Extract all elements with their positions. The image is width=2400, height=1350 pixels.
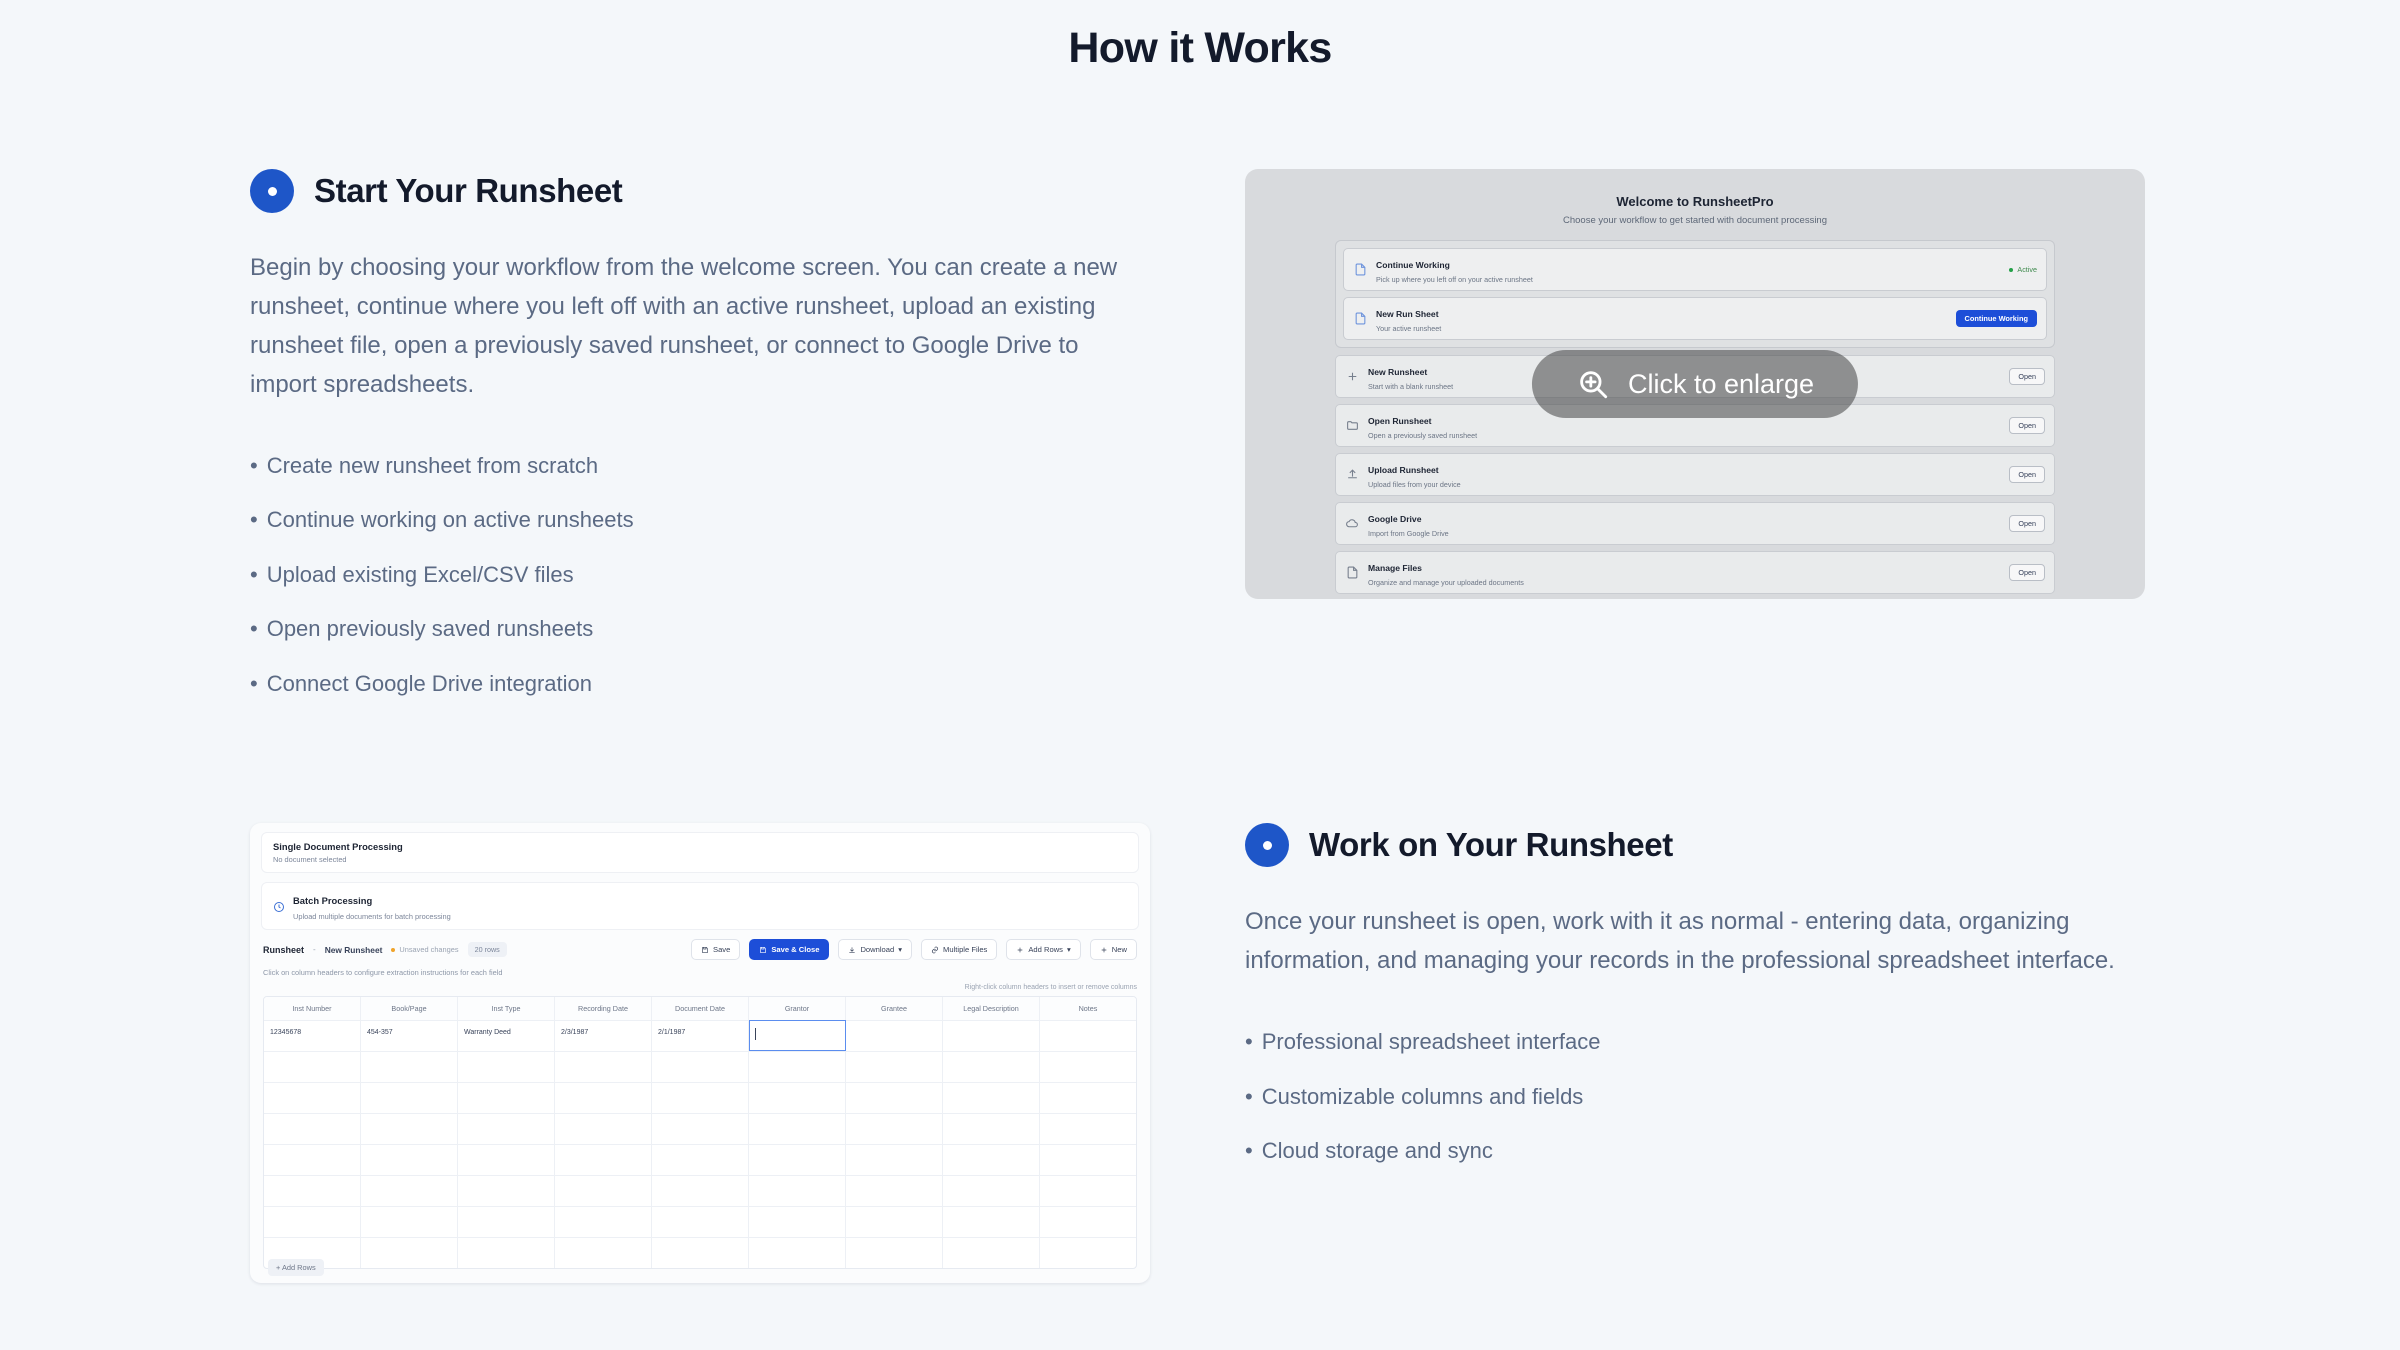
table-cell[interactable]	[555, 1144, 652, 1175]
table-row	[264, 1082, 1136, 1113]
new-button-label: New	[1112, 945, 1127, 954]
column-hint-right: Right-click column headers to insert or …	[250, 984, 1150, 996]
table-cell[interactable]	[846, 1020, 943, 1051]
list-item-desc: Upload files from your device	[1368, 480, 2009, 489]
chevron-down-icon: ▾	[898, 945, 902, 954]
table-cell[interactable]	[943, 1237, 1040, 1268]
table-cell[interactable]	[458, 1237, 555, 1268]
runsheet-table: Inst Number Book/Page Inst Type Recordin…	[263, 996, 1137, 1269]
table-cell[interactable]	[749, 1206, 846, 1237]
list-item[interactable]: Continue Working Pick up where you left …	[1343, 248, 2047, 291]
folder-icon	[1345, 418, 1360, 433]
table-cell[interactable]	[264, 1144, 361, 1175]
list-item-label: Create new runsheet from scratch	[267, 453, 598, 478]
list-item-title: Open Runsheet	[1368, 416, 1432, 426]
list-item-desc: Your active runsheet	[1376, 324, 1956, 333]
table-cell[interactable]	[555, 1175, 652, 1206]
list-item: •Connect Google Drive integration	[250, 657, 1155, 712]
table-cell[interactable]	[361, 1113, 458, 1144]
table-cell[interactable]	[846, 1206, 943, 1237]
list-item: •Continue working on active runsheets	[250, 493, 1155, 548]
single-document-card[interactable]: Single Document Processing No document s…	[261, 832, 1139, 873]
list-item: •Open previously saved runsheets	[250, 602, 1155, 657]
rows-count-badge: 20 rows	[468, 942, 507, 957]
table-cell[interactable]	[749, 1113, 846, 1144]
section-work-on-your-runsheet: Single Document Processing No document s…	[250, 823, 2150, 1283]
list-item-title: New Runsheet	[1368, 367, 1427, 377]
link-icon	[931, 946, 939, 954]
table-cell[interactable]	[749, 1051, 846, 1082]
table-cell[interactable]	[458, 1144, 555, 1175]
table-cell[interactable]: 12345678	[264, 1020, 361, 1051]
table-cell[interactable]	[652, 1206, 749, 1237]
table-cell[interactable]	[555, 1082, 652, 1113]
document-icon	[1353, 311, 1368, 326]
table-cell[interactable]	[749, 1237, 846, 1268]
table-row: 12345678 454-357 Warranty Deed 2/3/1987 …	[264, 1020, 1136, 1051]
magnifier-plus-icon	[1576, 367, 1610, 401]
list-item-desc: Open a previously saved runsheet	[1368, 431, 2009, 440]
plus-icon	[1016, 946, 1024, 954]
list-item-desc: Pick up where you left off on your activ…	[1376, 275, 2009, 284]
bullet-marker: •	[250, 453, 258, 478]
table-cell[interactable]	[264, 1206, 361, 1237]
plus-icon	[1345, 369, 1360, 384]
table-cell[interactable]	[749, 1144, 846, 1175]
list-item: •Professional spreadsheet interface	[1245, 1015, 2150, 1070]
table-cell[interactable]	[749, 1175, 846, 1206]
table-cell[interactable]	[943, 1113, 1040, 1144]
dot-circle-icon	[250, 169, 294, 213]
breadcrumb-root[interactable]: Runsheet	[263, 945, 304, 955]
table-cell[interactable]	[555, 1051, 652, 1082]
list-item[interactable]: Upload Runsheet Upload files from your d…	[1335, 453, 2055, 496]
table-row	[264, 1113, 1136, 1144]
table-cell[interactable]	[846, 1082, 943, 1113]
status-badge: Active	[2009, 265, 2037, 274]
save-and-close-label: Save & Close	[771, 945, 819, 954]
download-label: Download	[860, 945, 894, 954]
column-header-book-page[interactable]: Book/Page	[361, 997, 458, 1020]
table-cell[interactable]	[458, 1175, 555, 1206]
table-cell[interactable]	[264, 1051, 361, 1082]
open-button[interactable]: Open	[2009, 368, 2045, 385]
table-cell[interactable]	[846, 1144, 943, 1175]
list-item-label: Connect Google Drive integration	[267, 671, 592, 696]
cloud-icon	[1345, 516, 1360, 531]
column-header-grantee[interactable]: Grantee	[846, 997, 943, 1020]
save-button-label: Save	[713, 945, 730, 954]
upload-icon	[1345, 467, 1360, 482]
click-to-enlarge-overlay[interactable]: Click to enlarge	[1532, 350, 1858, 418]
spreadsheet-screenshot-thumbnail[interactable]: Single Document Processing No document s…	[250, 823, 1150, 1283]
unsaved-dot-icon	[391, 948, 395, 952]
column-header-grantor[interactable]: Grantor	[749, 997, 846, 1020]
bullet-marker: •	[1245, 1138, 1253, 1163]
table-cell[interactable]	[943, 1082, 1040, 1113]
section-1-paragraph: Begin by choosing your workflow from the…	[250, 249, 1130, 405]
table-cell[interactable]	[458, 1206, 555, 1237]
open-button[interactable]: Open	[2009, 515, 2045, 532]
bullet-marker: •	[250, 616, 258, 641]
table-cell[interactable]	[1040, 1051, 1136, 1082]
list-item-title: Upload Runsheet	[1368, 465, 1439, 475]
list-item-text: New Run Sheet Your active runsheet	[1376, 304, 1956, 333]
table-cell[interactable]	[1040, 1175, 1136, 1206]
table-row	[264, 1237, 1136, 1268]
table-cell[interactable]	[652, 1051, 749, 1082]
list-item-label: Customizable columns and fields	[1262, 1084, 1584, 1109]
welcome-title: Welcome to RunsheetPro	[1335, 194, 2055, 209]
table-cell[interactable]	[652, 1144, 749, 1175]
section-1-heading: Start Your Runsheet	[314, 172, 622, 210]
unsaved-changes-badge: Unsaved changes	[391, 945, 458, 954]
table-row	[264, 1051, 1136, 1082]
table-cell[interactable]	[361, 1082, 458, 1113]
active-table-cell[interactable]	[749, 1020, 846, 1051]
list-item-label: Professional spreadsheet interface	[1262, 1029, 1601, 1054]
table-cell[interactable]	[264, 1082, 361, 1113]
section-2-text-column: Work on Your Runsheet Once your runsheet…	[1245, 823, 2150, 1179]
table-cell[interactable]: 454-357	[361, 1020, 458, 1051]
table-cell[interactable]	[458, 1082, 555, 1113]
open-button[interactable]: Open	[2009, 466, 2045, 483]
list-item: •Cloud storage and sync	[1245, 1124, 2150, 1179]
download-icon	[848, 946, 856, 954]
batch-title: Batch Processing	[293, 895, 372, 906]
list-item-desc: Import from Google Drive	[1368, 529, 2009, 538]
continue-working-panel: Continue Working Pick up where you left …	[1335, 240, 2055, 348]
content-wrapper: Start Your Runsheet Begin by choosing yo…	[250, 169, 2150, 1283]
list-item[interactable]: Manage Files Organize and manage your up…	[1335, 551, 2055, 594]
table-cell[interactable]	[1040, 1237, 1136, 1268]
list-item-label: Open previously saved runsheets	[267, 616, 594, 641]
list-item-text: Google Drive Import from Google Drive	[1368, 509, 2009, 538]
single-document-subtitle: No document selected	[273, 855, 1127, 864]
table-cell[interactable]	[943, 1206, 1040, 1237]
runsheet-toolbar: Runsheet - New Runsheet Unsaved changes …	[250, 930, 1150, 962]
table-cell[interactable]	[264, 1175, 361, 1206]
new-button[interactable]: New	[1090, 939, 1137, 960]
open-button[interactable]: Open	[2009, 417, 2045, 434]
table-cell[interactable]	[846, 1113, 943, 1144]
continue-working-button[interactable]: Continue Working	[1956, 310, 2038, 327]
list-item-title: Continue Working	[1376, 260, 1450, 270]
bullet-marker: •	[250, 562, 258, 587]
list-item-label: Continue working on active runsheets	[267, 507, 634, 532]
multiple-files-label: Multiple Files	[943, 945, 987, 954]
table-row	[264, 1206, 1136, 1237]
save-icon	[701, 946, 709, 954]
table-cell[interactable]	[1040, 1020, 1136, 1051]
file-icon	[1345, 565, 1360, 580]
table-cell[interactable]	[361, 1206, 458, 1237]
table-cell[interactable]	[361, 1144, 458, 1175]
table-cell[interactable]	[1040, 1144, 1136, 1175]
table-header-row: Inst Number Book/Page Inst Type Recordin…	[264, 997, 1136, 1020]
section-1-heading-row: Start Your Runsheet	[250, 169, 1155, 213]
table-cell[interactable]	[943, 1144, 1040, 1175]
table-cell[interactable]	[846, 1237, 943, 1268]
save-button[interactable]: Save	[691, 939, 740, 960]
list-item-title: New Run Sheet	[1376, 309, 1439, 319]
table-cell[interactable]	[555, 1206, 652, 1237]
list-item[interactable]: Google Drive Import from Google Drive Op…	[1335, 502, 2055, 545]
list-item: •Customizable columns and fields	[1245, 1070, 2150, 1125]
section-2-heading: Work on Your Runsheet	[1309, 826, 1673, 864]
batch-subtitle: Upload multiple documents for batch proc…	[293, 912, 451, 921]
table-cell[interactable]	[1040, 1113, 1136, 1144]
page-title: How it Works	[0, 0, 2400, 73]
dot-circle-icon	[1245, 823, 1289, 867]
table-row	[264, 1144, 1136, 1175]
section-2-bullet-list: •Professional spreadsheet interface •Cus…	[1245, 1015, 2150, 1179]
single-document-title: Single Document Processing	[273, 841, 1127, 852]
list-item[interactable]: New Run Sheet Your active runsheet Conti…	[1343, 297, 2047, 340]
bullet-marker: •	[1245, 1029, 1253, 1054]
unsaved-label: Unsaved changes	[399, 945, 458, 954]
add-rows-button[interactable]: Add Rows ▾	[1006, 939, 1080, 960]
bullet-marker: •	[250, 671, 258, 696]
section-start-your-runsheet: Start Your Runsheet Begin by choosing yo…	[250, 169, 2150, 711]
column-header-document-date[interactable]: Document Date	[652, 997, 749, 1020]
section-1-text-column: Start Your Runsheet Begin by choosing yo…	[250, 169, 1155, 711]
table-cell[interactable]	[1040, 1082, 1136, 1113]
save-icon	[759, 946, 767, 954]
bullet-marker: •	[1245, 1084, 1253, 1109]
breadcrumb-separator: -	[313, 945, 316, 954]
section-2-paragraph: Once your runsheet is open, work with it…	[1245, 903, 2125, 981]
table-cell[interactable]	[652, 1082, 749, 1113]
section-2-heading-row: Work on Your Runsheet	[1245, 823, 2150, 867]
batch-processing-card[interactable]: Batch Processing Upload multiple documen…	[261, 882, 1139, 930]
list-item: •Create new runsheet from scratch	[250, 439, 1155, 494]
list-item: •Upload existing Excel/CSV files	[250, 548, 1155, 603]
add-rows-label: Add Rows	[1028, 945, 1063, 954]
list-item-desc: Organize and manage your uploaded docume…	[1368, 578, 2009, 587]
batch-icon	[273, 900, 285, 912]
list-item-text: Manage Files Organize and manage your up…	[1368, 558, 2009, 587]
table-row	[264, 1175, 1136, 1206]
document-icon	[1353, 262, 1368, 277]
table-cell[interactable]: 2/3/1987	[555, 1020, 652, 1051]
table-cell[interactable]	[652, 1237, 749, 1268]
table-cell[interactable]	[458, 1051, 555, 1082]
chevron-down-icon: ▾	[1067, 945, 1071, 954]
list-item-title: Google Drive	[1368, 514, 1421, 524]
section-1-bullet-list: •Create new runsheet from scratch •Conti…	[250, 439, 1155, 712]
table-cell[interactable]: 2/1/1987	[652, 1020, 749, 1051]
welcome-screenshot-thumbnail[interactable]: Welcome to RunsheetPro Choose your workf…	[1245, 169, 2145, 599]
table-cell[interactable]	[555, 1113, 652, 1144]
table-cell[interactable]	[652, 1175, 749, 1206]
table-cell[interactable]	[943, 1051, 1040, 1082]
table-cell[interactable]	[846, 1051, 943, 1082]
table-cell[interactable]	[749, 1082, 846, 1113]
list-item-title: Manage Files	[1368, 563, 1422, 573]
table-cell[interactable]	[1040, 1206, 1136, 1237]
bullet-marker: •	[250, 507, 258, 532]
table-cell[interactable]	[943, 1020, 1040, 1051]
column-hint: Click on column headers to configure ext…	[250, 962, 1150, 984]
table-cell[interactable]	[458, 1113, 555, 1144]
status-label: Active	[2017, 265, 2037, 274]
column-header-legal-description[interactable]: Legal Description	[943, 997, 1040, 1020]
column-header-inst-number[interactable]: Inst Number	[264, 997, 361, 1020]
open-button[interactable]: Open	[2009, 564, 2045, 581]
list-item-text: Continue Working Pick up where you left …	[1376, 255, 2009, 284]
section-2-media-column: Single Document Processing No document s…	[250, 823, 1155, 1283]
breadcrumb-current: New Runsheet	[325, 945, 383, 955]
table-cell[interactable]	[361, 1051, 458, 1082]
click-to-enlarge-label: Click to enlarge	[1628, 369, 1814, 400]
column-header-notes[interactable]: Notes	[1040, 997, 1136, 1020]
table-cell[interactable]	[361, 1175, 458, 1206]
table-cell[interactable]	[264, 1113, 361, 1144]
table-cell[interactable]	[943, 1175, 1040, 1206]
table-cell[interactable]: Warranty Deed	[458, 1020, 555, 1051]
plus-icon	[1100, 946, 1108, 954]
add-rows-footer-button[interactable]: + Add Rows	[268, 1259, 324, 1276]
save-and-close-button[interactable]: Save & Close	[749, 939, 829, 960]
column-header-recording-date[interactable]: Recording Date	[555, 997, 652, 1020]
column-header-inst-type[interactable]: Inst Type	[458, 997, 555, 1020]
section-1-media-column: Welcome to RunsheetPro Choose your workf…	[1245, 169, 2150, 599]
table-cell[interactable]	[846, 1175, 943, 1206]
multiple-files-button[interactable]: Multiple Files	[921, 939, 997, 960]
status-dot-icon	[2009, 268, 2013, 272]
list-item-label: Upload existing Excel/CSV files	[267, 562, 574, 587]
download-button[interactable]: Download ▾	[838, 939, 912, 960]
list-item-text: Upload Runsheet Upload files from your d…	[1368, 460, 2009, 489]
table-cell[interactable]	[555, 1237, 652, 1268]
table-cell[interactable]	[361, 1237, 458, 1268]
list-item-label: Cloud storage and sync	[1262, 1138, 1493, 1163]
table-cell[interactable]	[652, 1113, 749, 1144]
welcome-subtitle: Choose your workflow to get started with…	[1335, 215, 2055, 226]
